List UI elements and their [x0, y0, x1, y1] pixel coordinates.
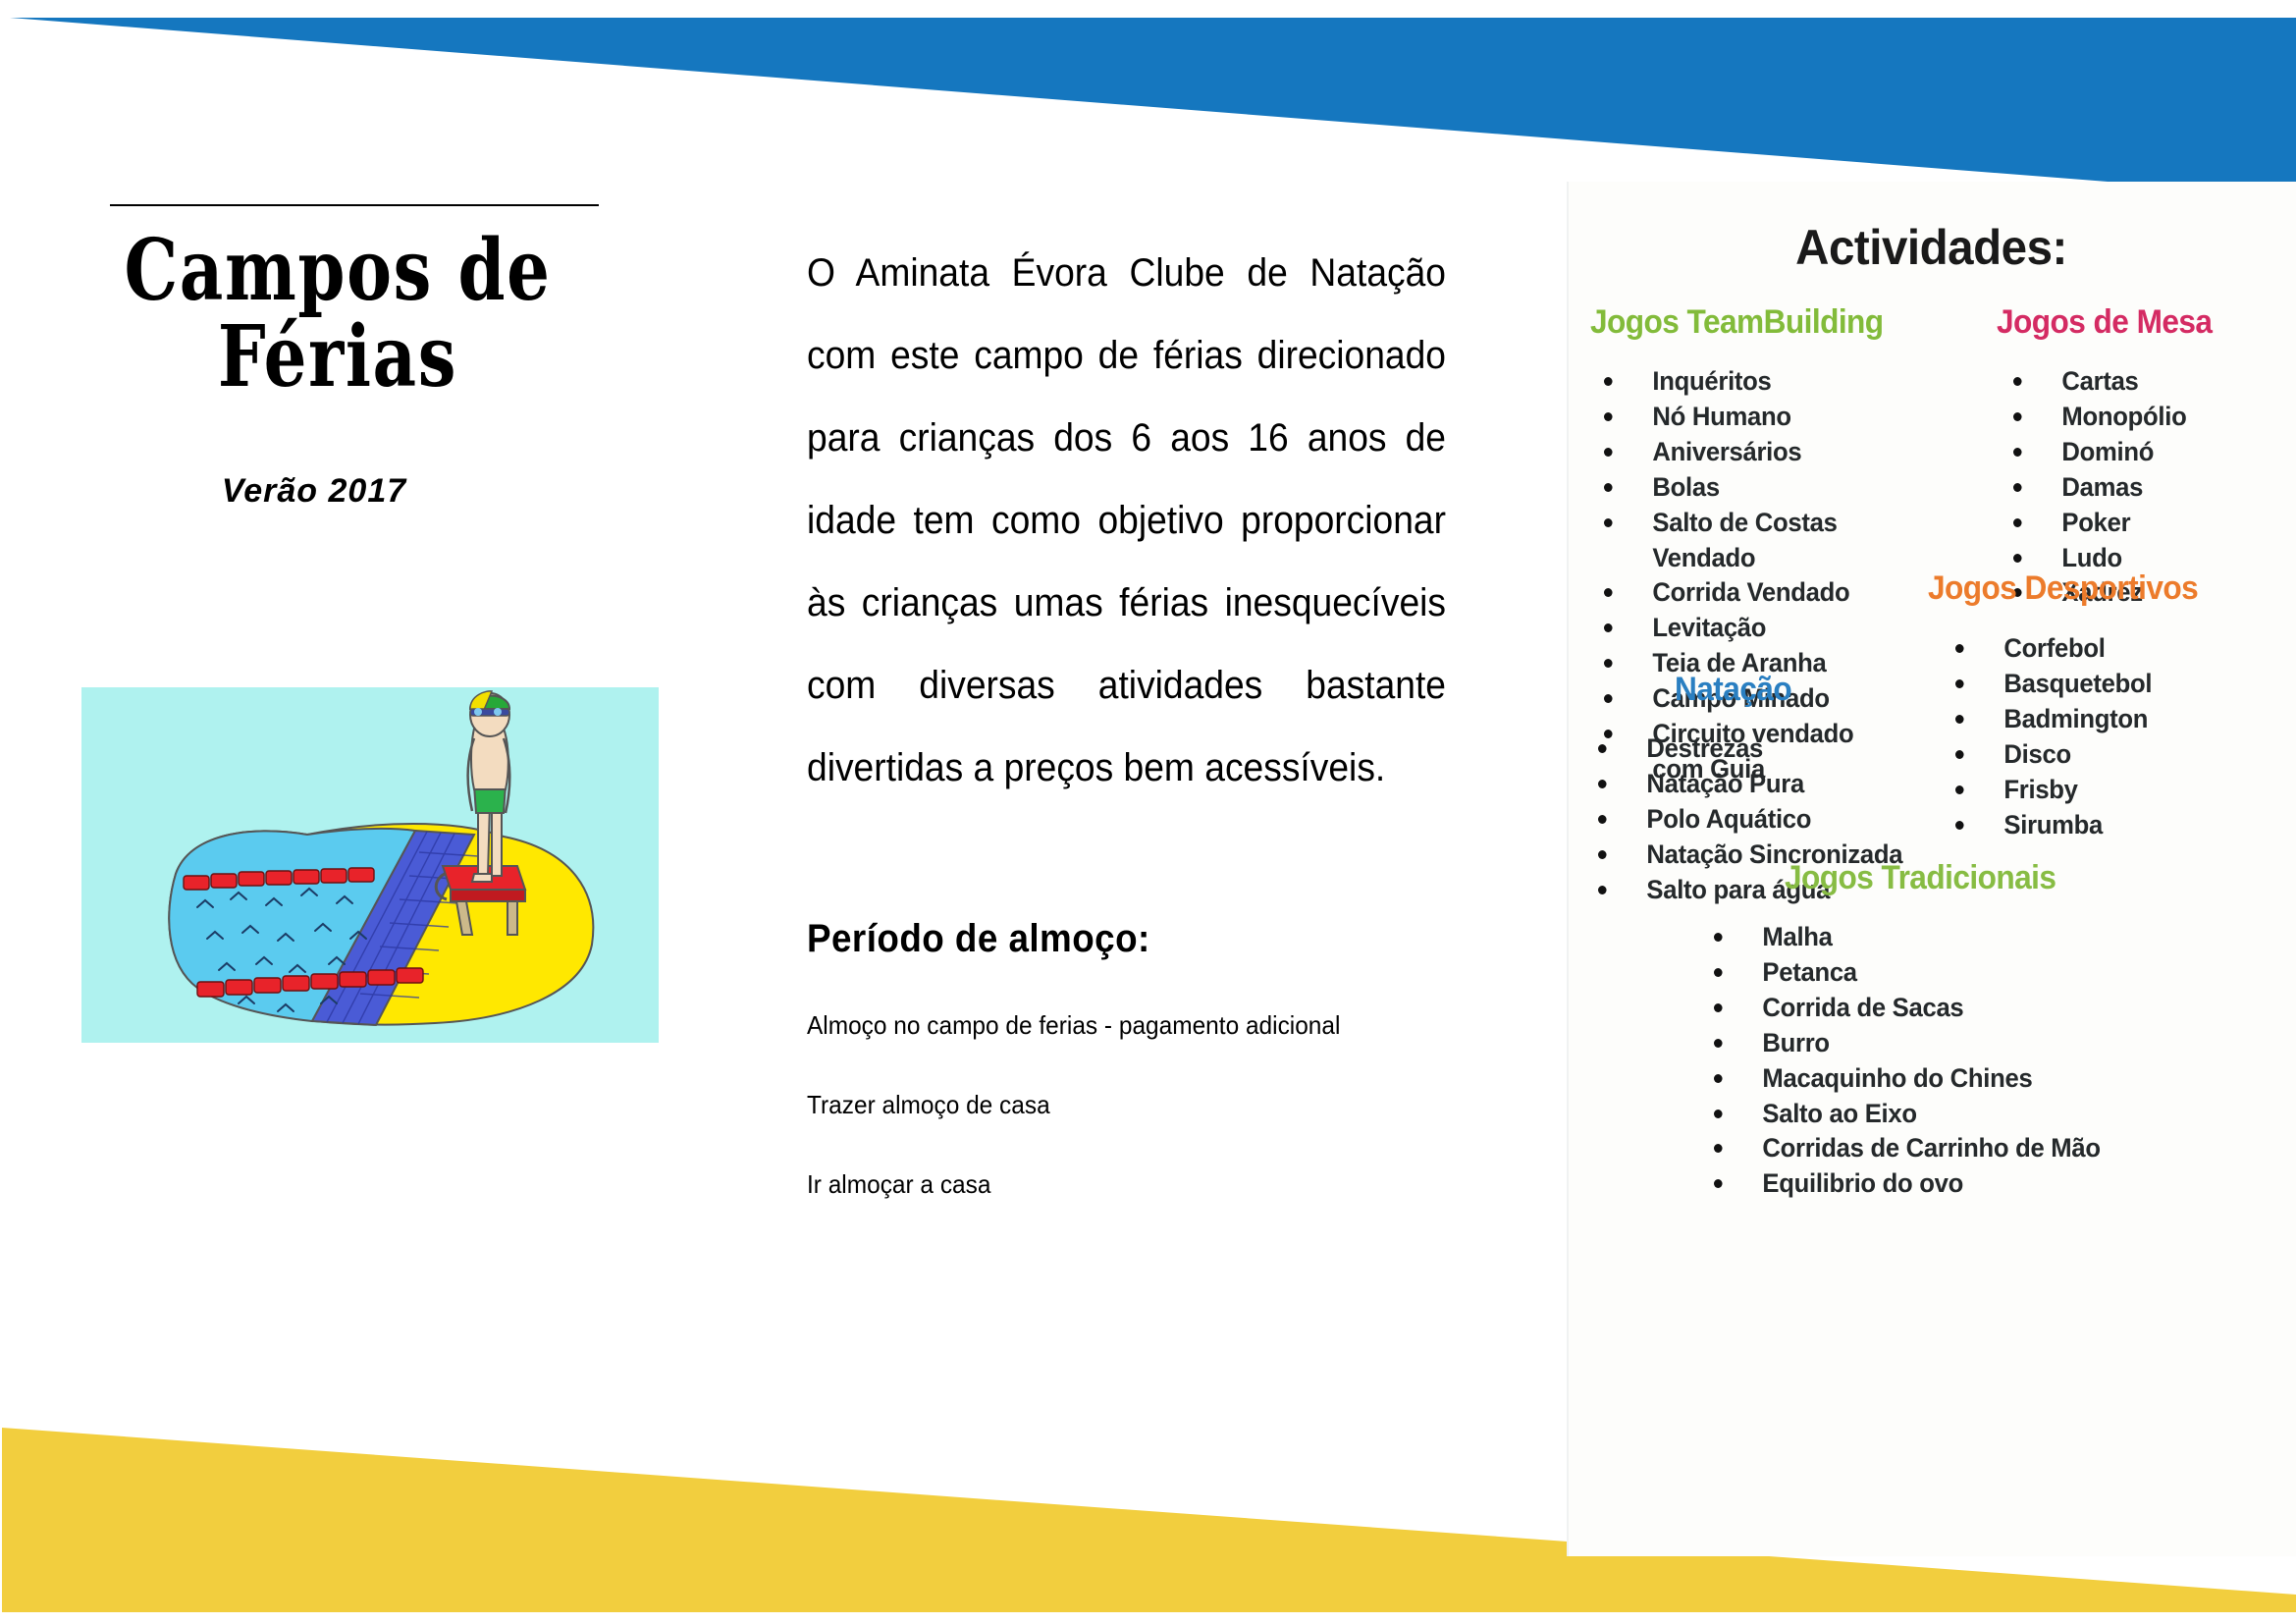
brochure-page: Campos de Férias Verão 2017: [0, 0, 2296, 1624]
blue-triangle-shape: [10, 18, 2296, 196]
intro-paragraph: O Aminata Évora Clube de Natação com est…: [807, 232, 1446, 809]
lunch-period-heading: Período de almoço:: [807, 917, 1439, 961]
middle-column: O Aminata Évora Clube de Natação com est…: [807, 232, 1494, 1200]
list-item: Polo Aquático: [1598, 802, 1902, 838]
list-item: Monopólio: [2013, 400, 2186, 435]
list-item: Corfebol: [1955, 631, 2152, 667]
list-item: Nó Humano: [1604, 400, 1853, 435]
list-item: Aniversários: [1604, 435, 1853, 470]
list-item: Petanca: [1714, 955, 2101, 991]
left-column: Campos de Férias Verão 2017: [0, 187, 746, 511]
lunch-options-list: Almoço no campo de ferias - pagamento ad…: [807, 1010, 1494, 1200]
top-blue-banner: [0, 0, 2296, 206]
list-item: Basquetebol: [1955, 667, 2152, 702]
list-item-continuation: Vendado: [1604, 541, 1853, 576]
list-item: Corrida de Sacas: [1714, 991, 2101, 1026]
list-item: Natação Pura: [1598, 767, 1902, 802]
section-heading-teambuilding: Jogos TeamBuilding: [1590, 303, 1884, 342]
list-item: Salto ao Eixo: [1714, 1097, 2101, 1132]
list-item: Sirumba: [1955, 808, 2152, 843]
activities-title: Actividades:: [1585, 219, 2278, 276]
list-item: Dominó: [2013, 435, 2186, 470]
list-item: Badmington: [1955, 702, 2152, 737]
list-item: Burro: [1714, 1026, 2101, 1061]
list-item: Macaquinho do Chines: [1714, 1061, 2101, 1097]
list-item: Damas: [2013, 470, 2186, 506]
list-item: Corridas de Carrinho de Mão: [1714, 1131, 2101, 1166]
activities-list-teambuilding: Inquéritos Nó Humano Aniversários Bolas …: [1604, 364, 1867, 787]
activities-list-jogos-tradicionais: Malha Petanca Corrida de Sacas Burro Mac…: [1714, 920, 2120, 1202]
list-item: Poker: [2013, 506, 2186, 541]
title-divider-rule: [110, 204, 599, 206]
list-item: Bolas: [1604, 470, 1853, 506]
activities-panel: Actividades: Jogos TeamBuilding Inquérit…: [1567, 182, 2296, 1556]
list-item: Equilibrio do ovo: [1714, 1166, 2101, 1202]
subtitle-season: Verão 2017: [0, 472, 746, 511]
list-item: Corrida Vendado: [1604, 575, 1853, 611]
activities-list-jogos-desportivos: Corfebol Basquetebol Badmington Disco Fr…: [1955, 631, 2163, 842]
list-item: Inquéritos: [1604, 364, 1853, 400]
list-item: Trazer almoço de casa: [807, 1090, 1453, 1120]
list-item: Destrezas: [1598, 731, 1902, 767]
section-heading-jogos-tradicionais: Jogos Tradicionais: [1785, 859, 2056, 897]
page-title: Campos de Férias: [75, 228, 671, 400]
list-item: Frisby: [1955, 773, 2152, 808]
list-item: Disco: [1955, 737, 2152, 773]
section-heading-jogos-de-mesa: Jogos de Mesa: [1997, 303, 2212, 342]
swimmer-on-starting-block-illustration: [81, 687, 659, 1043]
section-heading-natacao: Natação: [1675, 671, 1791, 709]
list-item: Malha: [1714, 920, 2101, 955]
list-item: Salto de Costas: [1604, 506, 1853, 541]
list-item: Almoço no campo de ferias - pagamento ad…: [807, 1010, 1453, 1041]
list-item: Ir almoçar a casa: [807, 1169, 1453, 1200]
list-item: Cartas: [2013, 364, 2186, 400]
list-item: Levitação: [1604, 611, 1853, 646]
section-heading-jogos-desportivos: Jogos Desportivos: [1928, 569, 2198, 608]
